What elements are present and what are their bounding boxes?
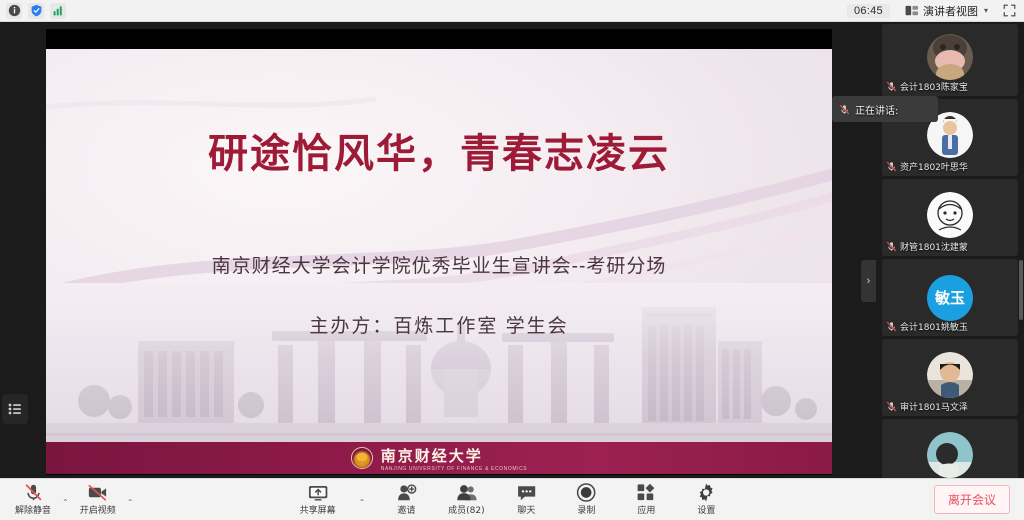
fullscreen-button[interactable] xyxy=(1003,4,1016,17)
mic-muted-icon xyxy=(886,401,897,412)
apps-icon xyxy=(637,483,656,502)
participant-name: 审计1801马文泽 xyxy=(900,400,968,413)
shared-screen-stage: 研途恰风华，青春志凌云 南京财经大学会计学院优秀毕业生宣讲会--考研分场 主办方… xyxy=(0,22,878,478)
settings-button[interactable]: 设置 xyxy=(683,480,729,520)
share-options-chevron-icon[interactable]: ⌃ xyxy=(355,498,370,507)
toolbar-center-group: 共享屏幕 ⌃ 邀请 成员(82) xyxy=(295,480,730,520)
chat-label: 聊天 xyxy=(517,503,535,516)
chevron-down-icon: ▾ xyxy=(984,6,988,15)
participant-name: 会计1801姚敏玉 xyxy=(900,320,968,333)
start-video-button[interactable]: 开启视频 xyxy=(75,480,121,520)
signal-icon[interactable] xyxy=(50,3,66,19)
fullscreen-icon xyxy=(1003,4,1016,17)
avatar xyxy=(927,352,973,398)
participant-name: 会计1803陈家宝 xyxy=(900,80,968,93)
participant-name: 财管1801沈建蒙 xyxy=(900,240,968,253)
speaking-indicator-toast: 正在讲话: xyxy=(832,96,938,122)
university-name: 南京财经大学 NANJING UNIVERSITY OF FINANCE & E… xyxy=(381,445,527,472)
mic-muted-icon xyxy=(886,241,897,252)
unmute-button[interactable]: 解除静音 xyxy=(10,480,56,520)
mic-options-chevron-icon[interactable]: ⌃ xyxy=(58,498,73,507)
avatar-initials: 敏玉 xyxy=(927,275,973,321)
participants-button[interactable]: 成员(82) xyxy=(443,480,489,520)
participant-tile[interactable]: 审计1801马文泽 xyxy=(882,339,1018,416)
toolbar-right-group: 离开会议 xyxy=(934,485,1024,514)
meeting-list-button[interactable] xyxy=(2,394,28,424)
participant-name-row: 资产1802叶思华 xyxy=(886,160,968,173)
participant-tile[interactable]: 财管1801沈建蒙 xyxy=(882,179,1018,256)
chat-button[interactable]: 聊天 xyxy=(503,480,549,520)
speaking-label: 正在讲话: xyxy=(855,102,898,117)
invite-icon xyxy=(396,484,416,502)
avatar xyxy=(927,432,973,478)
collapse-panel-button[interactable]: › xyxy=(861,260,876,302)
list-icon xyxy=(8,403,22,415)
avatar xyxy=(927,34,973,80)
record-label: 录制 xyxy=(577,503,595,516)
video-options-chevron-icon[interactable]: ⌃ xyxy=(123,498,138,507)
slide-footer: 南京财经大学 NANJING UNIVERSITY OF FINANCE & E… xyxy=(46,442,832,474)
shared-content-frame: 研途恰风华，青春志凌云 南京财经大学会计学院优秀毕业生宣讲会--考研分场 主办方… xyxy=(46,29,832,475)
record-icon xyxy=(577,483,596,502)
campus-photo xyxy=(46,283,832,448)
invite-button[interactable]: 邀请 xyxy=(383,480,429,520)
participant-strip[interactable]: 会计1803陈家宝 正在讲话: xyxy=(878,22,1024,478)
top-bar-status-icons xyxy=(0,3,66,19)
settings-label: 设置 xyxy=(697,503,715,516)
mic-muted-icon xyxy=(886,81,897,92)
record-button[interactable]: 录制 xyxy=(563,480,609,520)
share-screen-icon xyxy=(307,484,328,502)
top-bar: 06:45 演讲者视图 ▾ xyxy=(0,0,1024,22)
speaker-view-icon xyxy=(905,5,919,17)
participant-name: 资产1802叶思华 xyxy=(900,160,968,173)
participant-name-row: 财管1801沈建蒙 xyxy=(886,240,968,253)
view-mode-label: 演讲者视图 xyxy=(923,3,978,19)
shield-icon[interactable] xyxy=(28,3,44,19)
slide-organizer: 主办方：百炼工作室 学生会 xyxy=(46,311,832,338)
meeting-clock: 06:45 xyxy=(847,4,890,18)
view-mode-selector[interactable]: 演讲者视图 ▾ xyxy=(900,2,993,20)
invite-label: 邀请 xyxy=(397,503,415,516)
university-seal-icon xyxy=(351,447,373,469)
university-name-en: NANJING UNIVERSITY OF FINANCE & ECONOMIC… xyxy=(381,466,527,472)
participants-label: 成员(82) xyxy=(448,503,484,516)
participant-tile[interactable]: 敏玉 会计1801姚敏玉 xyxy=(882,259,1018,336)
meeting-window: 06:45 演讲者视图 ▾ xyxy=(0,0,1024,520)
mic-muted-icon xyxy=(886,161,897,172)
participant-name-row: 会计1801姚敏玉 xyxy=(886,320,968,333)
university-name-cn: 南京财经大学 xyxy=(381,447,483,465)
slide-title: 研途恰风华，青春志凌云 xyxy=(46,121,832,179)
presentation-slide: 研途恰风华，青春志凌云 南京财经大学会计学院优秀毕业生宣讲会--考研分场 主办方… xyxy=(46,49,832,474)
slide-subtitle: 南京财经大学会计学院优秀毕业生宣讲会--考研分场 xyxy=(46,251,832,278)
video-off-icon xyxy=(87,483,108,502)
chat-icon xyxy=(516,484,536,502)
participants-icon xyxy=(456,484,476,502)
info-icon[interactable] xyxy=(6,3,22,19)
participant-name-row: 会计1803陈家宝 xyxy=(886,80,968,93)
share-screen-label: 共享屏幕 xyxy=(300,503,336,516)
mic-muted-icon xyxy=(24,483,43,502)
participant-name-row: 审计1801马文泽 xyxy=(886,400,968,413)
avatar xyxy=(927,192,973,238)
apps-button[interactable]: 应用 xyxy=(623,480,669,520)
bottom-toolbar: 解除静音 ⌃ 开启视频 ⌃ 共享屏幕 xyxy=(0,478,1024,520)
apps-label: 应用 xyxy=(637,503,655,516)
chevron-right-icon: › xyxy=(867,275,871,287)
strip-scrollbar[interactable] xyxy=(1019,260,1023,320)
unmute-label: 解除静音 xyxy=(15,503,51,516)
mic-muted-icon xyxy=(839,104,850,115)
participant-tile[interactable]: 会计1803陈家宝 xyxy=(882,24,1018,96)
settings-icon xyxy=(697,483,716,502)
mic-muted-icon xyxy=(886,321,897,332)
top-bar-controls: 06:45 演讲者视图 ▾ xyxy=(847,0,1024,21)
leave-meeting-button[interactable]: 离开会议 xyxy=(934,485,1010,514)
start-video-label: 开启视频 xyxy=(80,503,116,516)
share-screen-button[interactable]: 共享屏幕 xyxy=(295,480,341,520)
toolbar-left-group: 解除静音 ⌃ 开启视频 ⌃ xyxy=(0,480,137,520)
